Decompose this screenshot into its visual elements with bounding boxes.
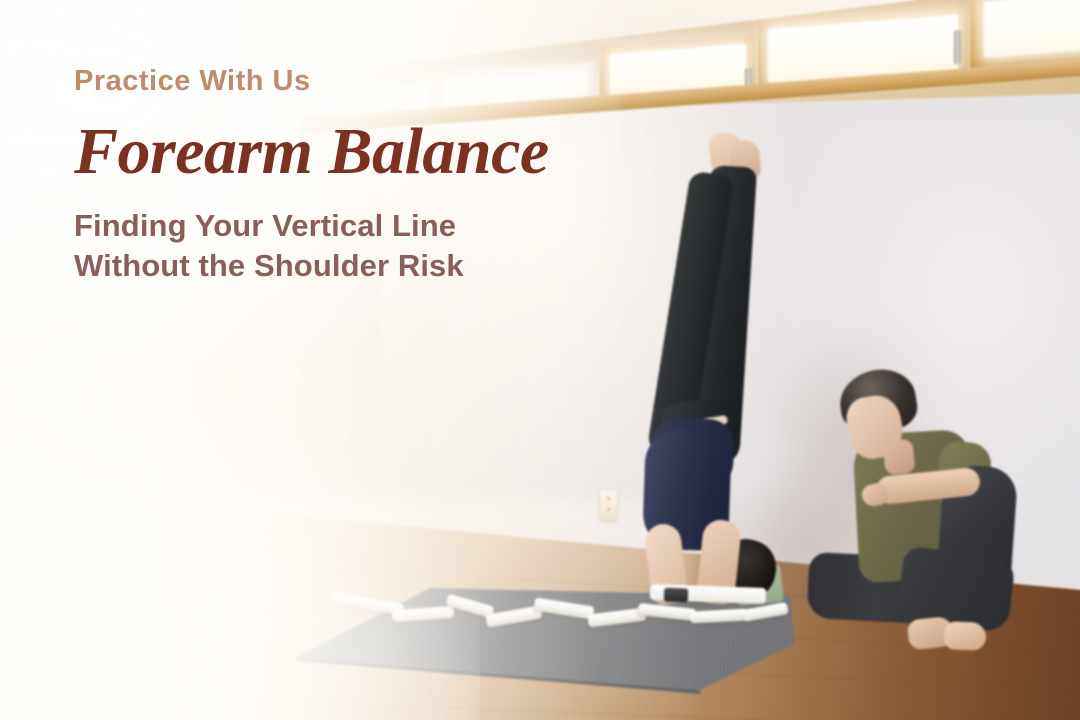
window-hinge-icon [954,30,961,65]
subtitle-line-1: Finding Your Vertical Line [74,206,634,246]
video-thumbnail: Practice With Us Forearm Balance Finding… [0,0,1080,720]
subtitle: Finding Your Vertical Line Without the S… [74,206,634,287]
subtitle-line-2: Without the Shoulder Risk [74,246,634,286]
strap-buckle [664,588,688,603]
title-overlay: Practice With Us Forearm Balance Finding… [74,66,634,286]
light-switch [600,490,617,520]
eyebrow-text: Practice With Us [74,66,634,98]
page-title: Forearm Balance [74,118,634,187]
window-glass-edge [984,0,1080,58]
observer-foot [944,621,987,650]
